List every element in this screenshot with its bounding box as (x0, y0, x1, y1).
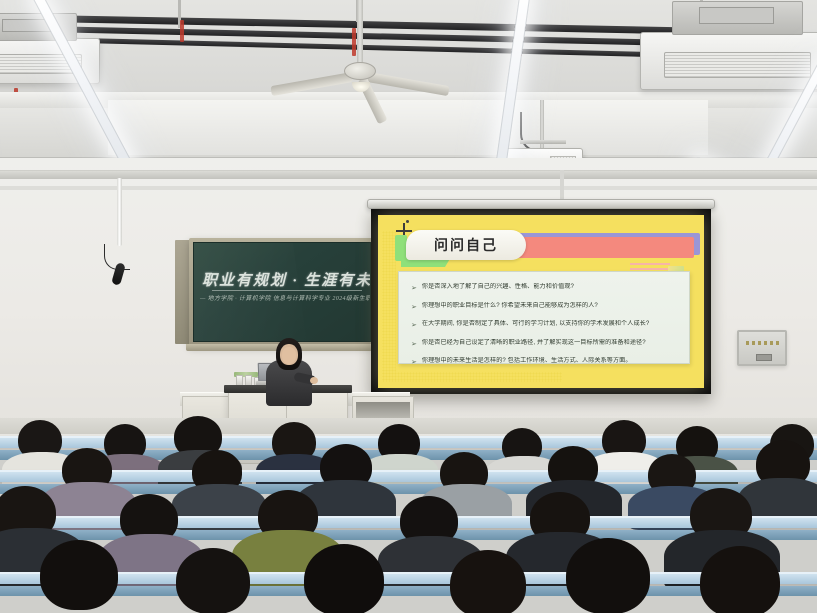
slide-bullet-text: 你是否已经为自己设定了清晰的职业路径, 并了解实现这一目标所需的准备和途径? (422, 339, 646, 347)
slide-title-plate: 问问自己 (406, 230, 526, 260)
slide-bullet-item: ➢ 在大学期间, 你是否制定了具体、可行的学习计划, 以支持你的学术发展和个人成… (411, 320, 677, 330)
slide-bullet-item: ➢ 你理想中的职业目标是什么? 你希望未来自己能够成为怎样的人? (411, 302, 677, 312)
student-head (450, 550, 526, 613)
air-conditioner-cassette-right (640, 32, 817, 90)
chalkboard: 职业有规划 · 生涯有未来 — 地方学院 · 计算机学院 信息与计算科学专业 2… (189, 238, 375, 346)
projector-cable (520, 112, 546, 152)
slide-bullet-text: 在大学期间, 你是否制定了具体、可行的学习计划, 以支持你的学术发展和个人成长? (422, 320, 649, 328)
slide-bullet-text: 你是否深入地了解了自己的兴趣、性格、能力和价值观? (422, 283, 574, 291)
slide-bullet-text: 你理想中的职业目标是什么? 你希望未来自己能够成为怎样的人? (422, 302, 598, 310)
slide-header-band-red (498, 237, 694, 258)
bullet-arrow-icon: ➢ (411, 339, 417, 349)
lecture-hall-photo: 职业有规划 · 生涯有未来 — 地方学院 · 计算机学院 信息与计算科学专业 2… (0, 0, 817, 613)
presentation-slide: 问问自己 ➢ 你是否深入地了解了自己的兴趣、性格、能力和价值观? ➢ 你理想中的… (378, 215, 704, 388)
slide-body-card: ➢ 你是否深入地了解了自己的兴趣、性格、能力和价值观? ➢ 你理想中的职业目标是… (398, 271, 690, 364)
chalkboard-subline: — 地方学院 · 计算机学院 信息与计算科学专业 2024级新生职业规划主题教育… (200, 293, 371, 302)
slide-bullet-item: ➢ 你理想中的未来生活是怎样的? 包括工作环境、生活方式、人际关系等方面。 (411, 357, 677, 367)
student-head (566, 538, 650, 613)
desk-front-panel (0, 586, 817, 596)
slide-bullet-item: ➢ 你是否已经为自己设定了清晰的职业路径, 并了解实现这一目标所需的准备和途径? (411, 339, 677, 349)
speaker-face (282, 347, 296, 364)
slide-title: 问问自己 (434, 235, 498, 255)
ceiling-fan (344, 62, 376, 80)
bullet-arrow-icon: ➢ (411, 357, 417, 367)
student-head (304, 544, 384, 613)
chalkboard-headline: 职业有规划 · 生涯有未来 (202, 269, 371, 290)
ac-access-panel (699, 7, 774, 23)
wall-rail (0, 170, 817, 179)
wall-notice-sign (737, 330, 787, 366)
projector-mount-bracket (520, 140, 566, 144)
bullet-arrow-icon: ➢ (411, 320, 417, 330)
fan-down-rod (357, 0, 363, 66)
projection-screen: 问问自己 ➢ 你是否深入地了解了自己的兴趣、性格、能力和价值观? ➢ 你理想中的… (371, 209, 711, 394)
speaker-hand (310, 377, 318, 384)
ac-housing (672, 1, 803, 36)
slide-dot-pattern (382, 231, 396, 381)
student-head (40, 540, 118, 610)
chalkboard-surface: 职业有规划 · 生涯有未来 — 地方学院 · 计算机学院 信息与计算科学专业 2… (193, 242, 371, 342)
student-head (700, 546, 780, 613)
wall-rail-secondary (0, 186, 817, 190)
projection-screen-roller (367, 199, 715, 209)
red-marker-tag (352, 28, 356, 56)
slide-bullet-item: ➢ 你是否深入地了解了自己的兴趣、性格、能力和价值观? (411, 283, 677, 293)
speaker-presenter (258, 332, 318, 402)
slide-dot-pattern (382, 372, 562, 382)
chalkboard-underline (212, 290, 362, 291)
sparkle-dot-icon (406, 220, 409, 223)
bullet-arrow-icon: ➢ (411, 302, 417, 312)
student-desk-row (0, 572, 817, 584)
ac-grille-icon (664, 52, 811, 78)
bullet-arrow-icon: ➢ (411, 283, 417, 293)
red-marker-tag (180, 20, 184, 42)
cabinet-shelf-slot (356, 402, 410, 418)
slide-bullet-text: 你理想中的未来生活是怎样的? 包括工作环境、生活方式、人际关系等方面。 (422, 357, 632, 365)
student-head (176, 548, 250, 613)
sign-text-line (746, 341, 782, 345)
ceiling-soffit-panel (108, 100, 708, 155)
microphone-drop-rod (117, 178, 122, 246)
sign-badge (756, 354, 772, 361)
